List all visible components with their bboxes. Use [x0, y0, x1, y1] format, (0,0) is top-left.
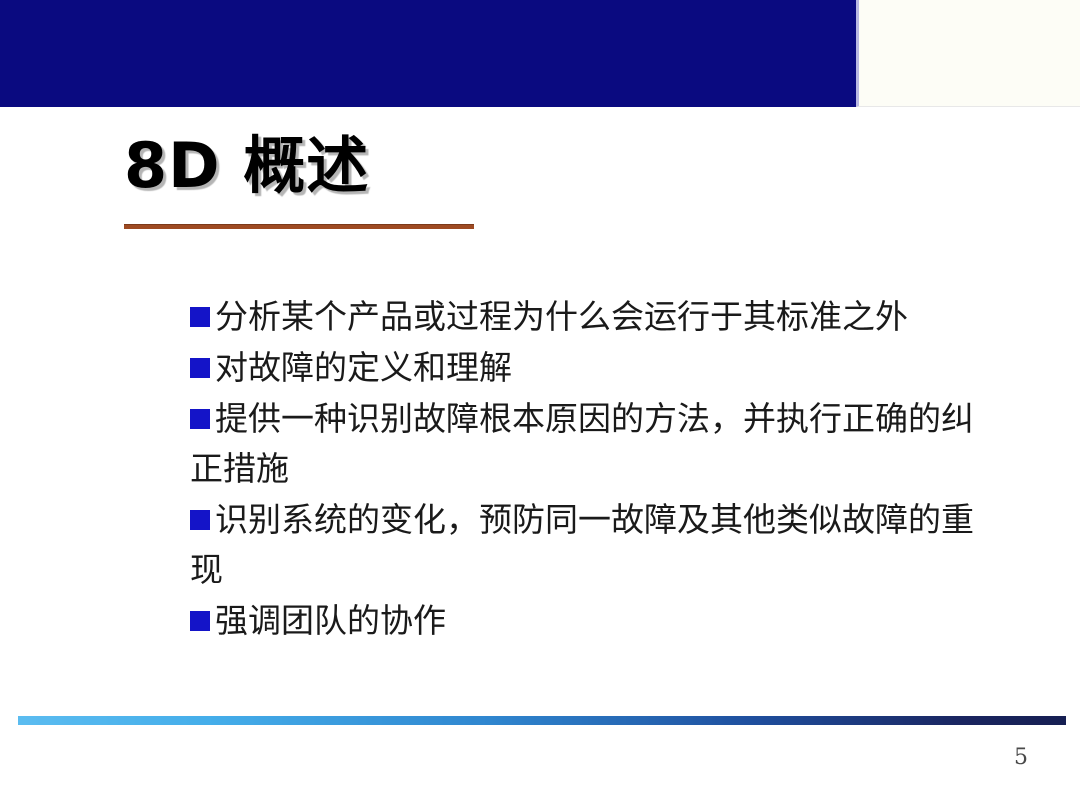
- page-number: 5: [1014, 745, 1028, 770]
- list-item: 提供一种识别故障根本原因的方法，并执行正确的纠正措施: [190, 394, 990, 494]
- title-block: 8D 概述: [124, 133, 824, 198]
- list-item: 识别系统的变化，预防同一故障及其他类似故障的重现: [190, 495, 990, 595]
- square-bullet-icon: [190, 409, 210, 429]
- footer-gradient-bar: [18, 716, 1066, 725]
- square-bullet-icon: [190, 510, 210, 530]
- list-item-label: 强调团队的协作: [215, 601, 446, 640]
- list-item-label: 对故障的定义和理解: [215, 348, 512, 387]
- square-bullet-icon: [190, 611, 210, 631]
- header-right-panel: [856, 0, 1080, 107]
- presentation-slide: 8D 概述 分析某个产品或过程为什么会运行于其标准之外 对故障的定义和理解 提供…: [0, 0, 1080, 810]
- title-underline-rule: [124, 224, 474, 229]
- list-item-label: 提供一种识别故障根本原因的方法，并执行正确的纠正措施: [190, 399, 974, 488]
- square-bullet-icon: [190, 307, 210, 327]
- list-item-label: 识别系统的变化，预防同一故障及其他类似故障的重现: [190, 500, 974, 589]
- header-navy-band: [0, 0, 856, 107]
- list-item: 强调团队的协作: [190, 596, 990, 646]
- list-item-label: 分析某个产品或过程为什么会运行于其标准之外: [215, 297, 908, 336]
- list-item: 对故障的定义和理解: [190, 343, 990, 393]
- list-item: 分析某个产品或过程为什么会运行于其标准之外: [190, 292, 990, 342]
- page-title: 8D 概述: [124, 133, 824, 198]
- square-bullet-icon: [190, 358, 210, 378]
- bullet-list: 分析某个产品或过程为什么会运行于其标准之外 对故障的定义和理解 提供一种识别故障…: [190, 292, 990, 647]
